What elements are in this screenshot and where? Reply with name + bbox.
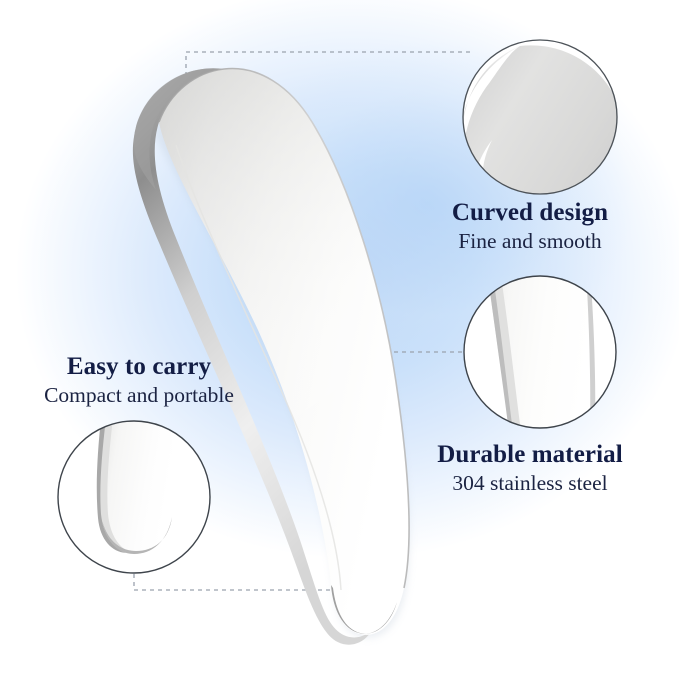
callout-label-easy-to-carry: Easy to carry Compact and portable	[0, 352, 278, 408]
callout-subtitle-curved-design: Fine and smooth	[388, 229, 672, 254]
callout-label-curved-design: Curved design Fine and smooth	[388, 198, 672, 254]
callout-circle-easy-to-carry	[0, 0, 679, 679]
callout-title-curved-design: Curved design	[388, 198, 672, 227]
callout-subtitle-durable-material: 304 stainless steel	[388, 471, 672, 496]
product-feature-image: Curved design Fine and smooth Durable ma…	[0, 0, 679, 679]
callout-title-durable-material: Durable material	[388, 440, 672, 469]
callout-subtitle-easy-to-carry: Compact and portable	[0, 383, 278, 408]
callout-title-easy-to-carry: Easy to carry	[0, 352, 278, 381]
callout-label-durable-material: Durable material 304 stainless steel	[388, 440, 672, 496]
